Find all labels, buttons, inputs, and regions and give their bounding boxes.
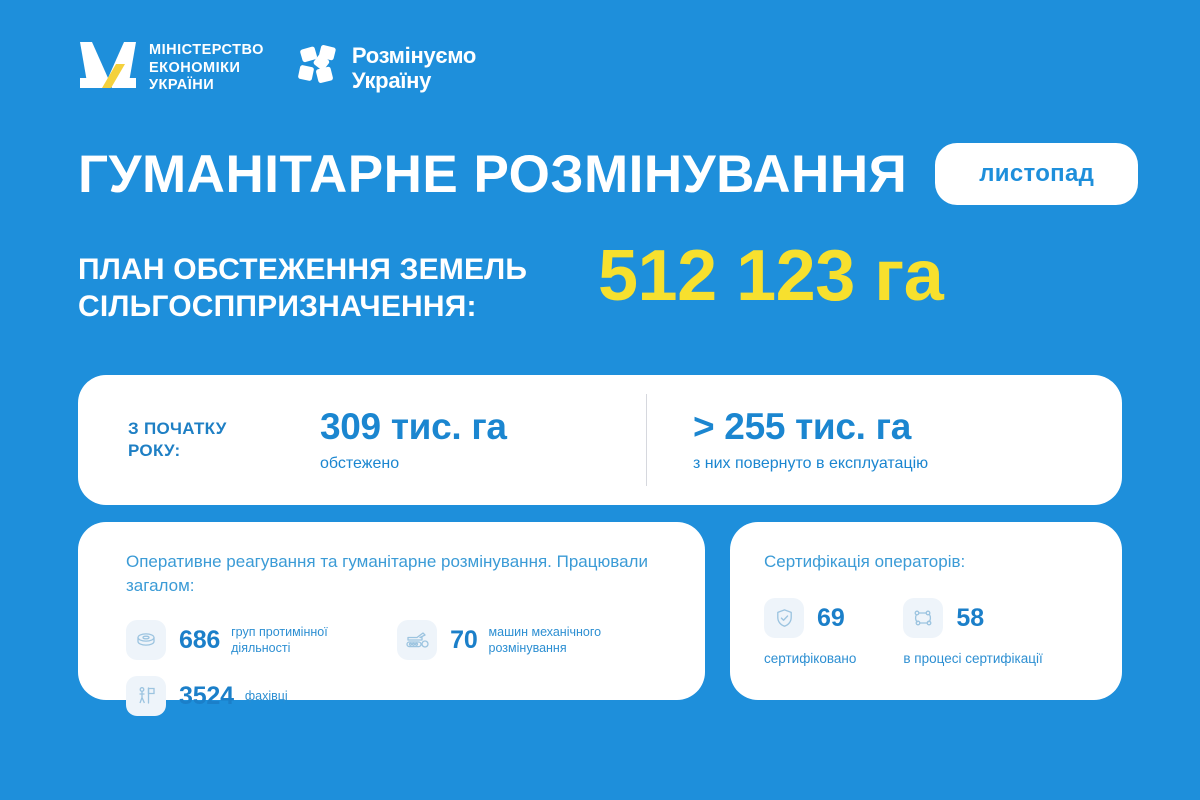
stat-machines-label: машин механічного розмінування: [489, 624, 619, 656]
year-summary-card: З ПОЧАТКУ РОКУ: 309 тис. га обстежено > …: [78, 375, 1122, 505]
stat-row: 3524 фахівці: [126, 676, 705, 716]
plan-value: 512 123 га: [598, 240, 943, 312]
month-badge: листопад: [935, 143, 1138, 205]
returned-stat: > 255 тис. га з них повернуто в експлуат…: [647, 407, 928, 473]
specialist-flag-icon: [126, 676, 166, 716]
ministry-logo-line-1: МІНІСТЕРСТВО: [149, 43, 264, 58]
year-card-label: З ПОЧАТКУ РОКУ:: [128, 418, 278, 463]
plan-row: ПЛАН ОБСТЕЖЕННЯ ЗЕМЕЛЬ СІЛЬГОСППРИЗНАЧЕН…: [78, 240, 1148, 325]
cert-certified-value: 69: [817, 604, 845, 633]
pinwheel-logo-icon: [298, 44, 342, 93]
demining-logo: Розмінуємо Україну: [298, 44, 476, 93]
surveyed-caption: обстежено: [320, 455, 507, 473]
shield-check-icon: [764, 598, 804, 638]
operations-card-heading: Оперативне реагування та гуманітарне роз…: [126, 550, 705, 598]
returned-caption: з них повернуто в експлуатацію: [693, 455, 928, 473]
certification-card: Сертифікація операторів: 69 сертифікован…: [730, 522, 1122, 700]
surveyed-value: 309 тис. га: [320, 407, 507, 448]
mine-disc-icon: [126, 620, 166, 660]
cert-in-progress-caption: в процесі сертифікації: [903, 651, 1042, 666]
demining-logo-line-2: Україну: [352, 69, 476, 92]
ministry-logo-line-2: ЕКОНОМІКИ: [149, 61, 264, 76]
stat-groups-value: 686: [179, 626, 220, 655]
certification-card-heading: Сертифікація операторів:: [764, 550, 1122, 574]
cert-in-progress-top: 58: [903, 598, 1042, 638]
stat-groups: 686 груп протимінної діяльності: [126, 620, 361, 660]
stat-machines-value: 70: [450, 626, 477, 655]
ministry-logo-line-3: УКРАЇНИ: [149, 78, 264, 93]
year-card-left: З ПОЧАТКУ РОКУ: 309 тис. га обстежено: [78, 407, 646, 473]
title-row: ГУМАНІТАРНЕ РОЗМІНУВАННЯ листопад: [78, 143, 1148, 205]
stat-row: 686 груп протимінної діяльності 70 машин…: [126, 620, 705, 660]
logo-bar: МІНІСТЕРСТВО ЕКОНОМІКИ УКРАЇНИ Розмінуєм…: [78, 38, 476, 98]
ministry-logo-text: МІНІСТЕРСТВО ЕКОНОМІКИ УКРАЇНИ: [149, 43, 264, 93]
cert-in-progress-value: 58: [956, 604, 984, 633]
stat-groups-label: груп протимінної діяльності: [231, 624, 361, 656]
stat-specialists: 3524 фахівці: [126, 676, 288, 716]
demining-logo-line-1: Розмінуємо: [352, 44, 476, 67]
cert-certified-caption: сертифіковано: [764, 651, 856, 666]
cert-certified: 69 сертифіковано: [764, 598, 856, 666]
plan-label: ПЛАН ОБСТЕЖЕННЯ ЗЕМЕЛЬ СІЛЬГОСППРИЗНАЧЕН…: [78, 240, 598, 325]
cert-certified-top: 69: [764, 598, 856, 638]
operations-card: Оперативне реагування та гуманітарне роз…: [78, 522, 705, 700]
page-title: ГУМАНІТАРНЕ РОЗМІНУВАННЯ: [78, 148, 907, 201]
stat-machines: 70 машин механічного розмінування: [397, 620, 618, 660]
stat-specialists-label: фахівці: [245, 688, 288, 704]
returned-value: > 255 тис. га: [693, 407, 928, 448]
ministry-m-logo-icon: [78, 38, 138, 98]
certification-stats: 69 сертифіковано 58 в процесі сертифікац…: [764, 598, 1122, 666]
cert-in-progress: 58 в процесі сертифікації: [903, 598, 1042, 666]
demining-machine-icon: [397, 620, 437, 660]
stat-specialists-value: 3524: [179, 682, 234, 711]
operations-stats: 686 груп протимінної діяльності 70 машин…: [126, 620, 705, 716]
ministry-logo: МІНІСТЕРСТВО ЕКОНОМІКИ УКРАЇНИ: [78, 38, 264, 98]
surveyed-stat: 309 тис. га обстежено: [320, 407, 507, 473]
process-flow-icon: [903, 598, 943, 638]
demining-logo-text: Розмінуємо Україну: [352, 44, 476, 91]
